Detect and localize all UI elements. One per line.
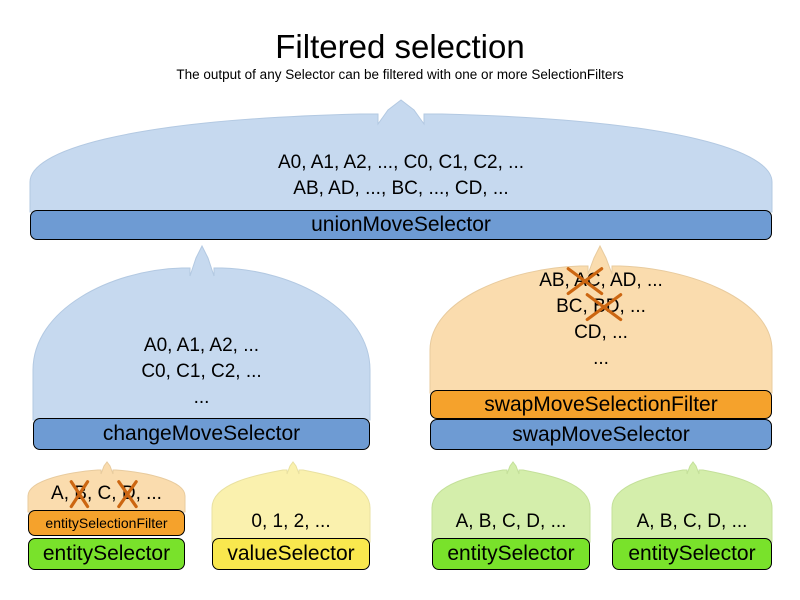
strikeout-marks-layer [0, 0, 800, 600]
diagram-canvas: unionMoveSelector changeMoveSelector swa… [0, 0, 800, 600]
